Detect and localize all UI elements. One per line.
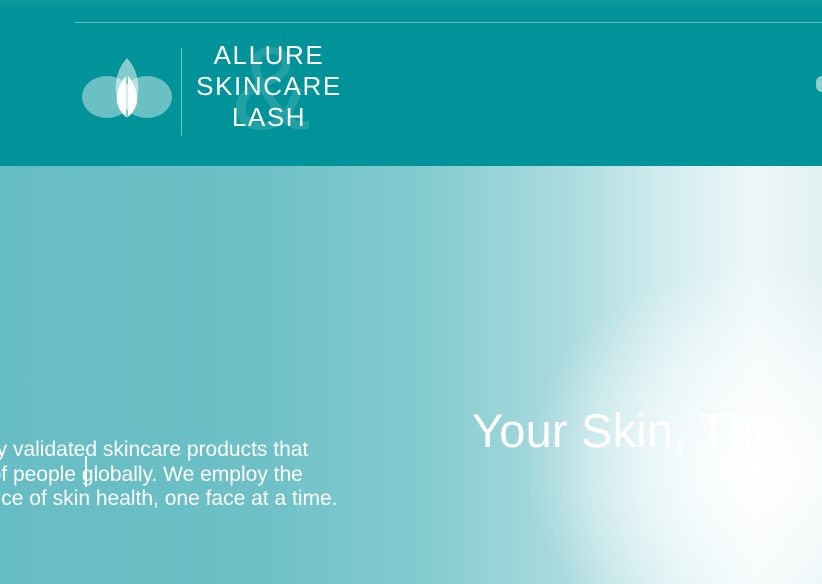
lotus-flower-icon [82, 56, 172, 122]
top-utility-strip [0, 0, 822, 7]
header-right-clipped-element[interactable] [816, 76, 822, 92]
page-root: & ALLURE SKINCARE LASH Your Skin, The o … [0, 0, 822, 584]
hero-paragraph-line: ve advance the science of skin health, o… [0, 487, 588, 512]
logo-line-allure: ALLURE [194, 40, 344, 71]
site-header: & ALLURE SKINCARE LASH [0, 0, 822, 166]
logo-line-skincare: SKINCARE [194, 71, 344, 102]
logo-wordmark: & ALLURE SKINCARE LASH [194, 40, 344, 144]
hero-paragraph: o developing clinically validated skinca… [0, 438, 588, 512]
logo-line-lash: LASH [194, 102, 344, 133]
hero-paragraph-line: o developing clinically validated skinca… [0, 438, 588, 463]
logo-text-lines: ALLURE SKINCARE LASH [194, 40, 344, 133]
logo-vertical-separator [181, 48, 182, 136]
hero-section: Your Skin, The o developing clinically v… [0, 166, 822, 584]
header-divider-rule [75, 22, 822, 23]
text-insertion-caret[interactable] [85, 456, 87, 487]
hero-paragraph-line: motional well-being of people globally. … [0, 463, 588, 488]
site-logo[interactable]: & ALLURE SKINCARE LASH [82, 40, 342, 144]
